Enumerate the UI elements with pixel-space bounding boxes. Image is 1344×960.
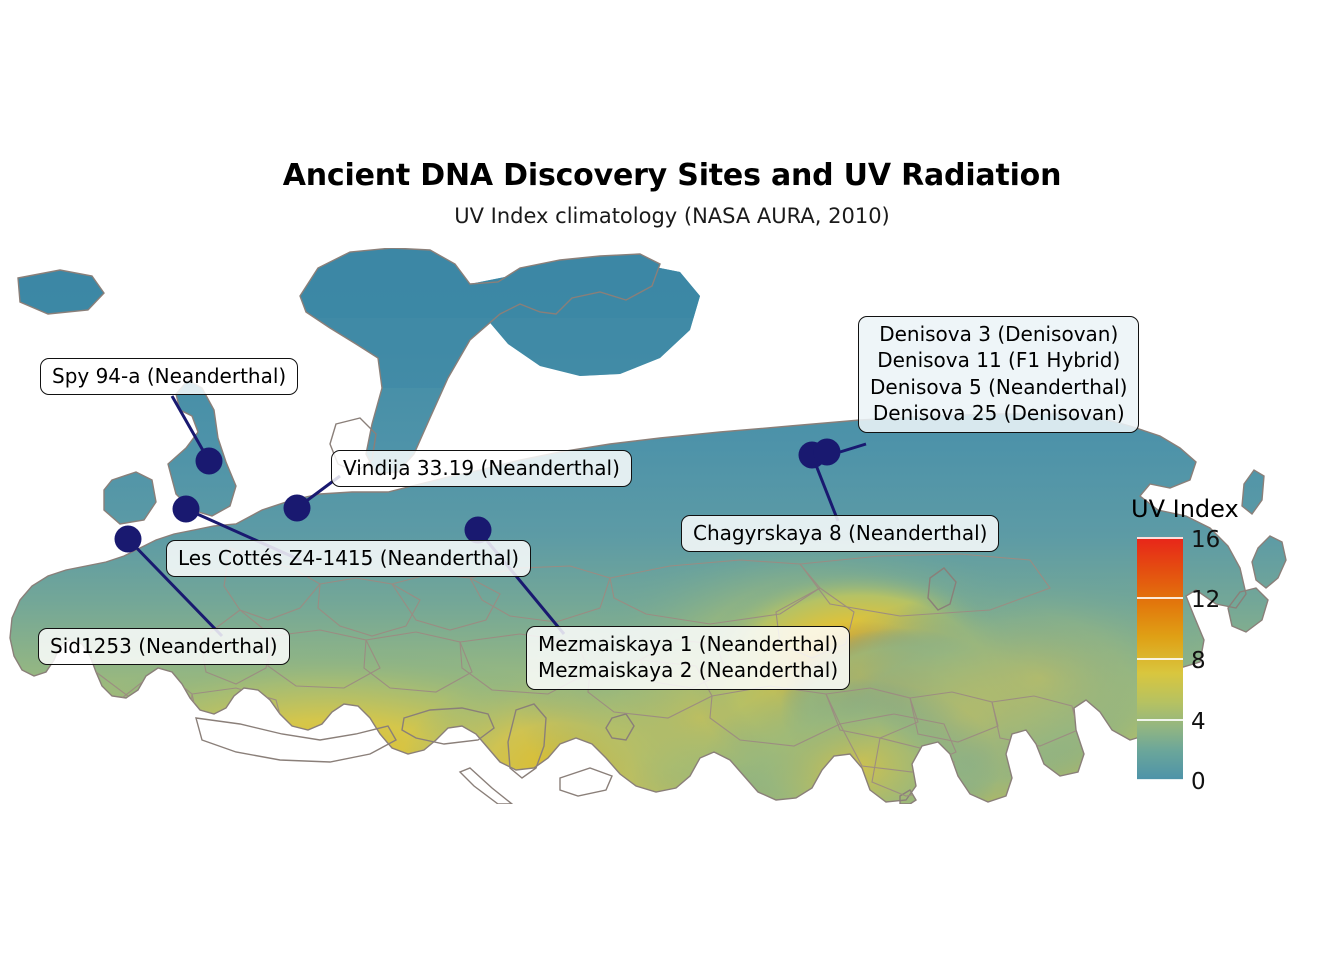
annotation-chagyrskaya[interactable]: Chagyrskaya 8 (Neanderthal) bbox=[681, 515, 999, 552]
annotation-line: Mezmaiskaya 1 (Neanderthal) bbox=[538, 631, 838, 657]
annotation-mezmaiskaya[interactable]: Mezmaiskaya 1 (Neanderthal) Mezmaiskaya … bbox=[526, 626, 850, 690]
page-title: Ancient DNA Discovery Sites and UV Radia… bbox=[0, 158, 1344, 193]
colorbar-tick-label: 16 bbox=[1191, 527, 1220, 553]
colorbar-tick-label: 4 bbox=[1191, 709, 1206, 735]
annotation-line: Denisova 3 (Denisovan) bbox=[870, 321, 1127, 347]
annotation-line: Chagyrskaya 8 (Neanderthal) bbox=[693, 520, 987, 546]
site-marker-denisova bbox=[814, 439, 841, 466]
colorbar-tick-label: 0 bbox=[1191, 769, 1206, 795]
site-marker-les-cottes bbox=[173, 496, 200, 523]
figure-canvas: Ancient DNA Discovery Sites and UV Radia… bbox=[0, 0, 1344, 960]
annotation-line: Denisova 11 (F1 Hybrid) bbox=[870, 347, 1127, 373]
colorbar-tick-mark bbox=[1137, 719, 1183, 721]
colorbar-title: UV Index bbox=[1131, 495, 1239, 523]
annotation-line: Denisova 5 (Neanderthal) bbox=[870, 374, 1127, 400]
colorbar-tick-mark bbox=[1137, 537, 1183, 539]
annotation-les-cottes[interactable]: Les Cottés Z4-1415 (Neanderthal) bbox=[166, 540, 531, 577]
colorbar-tick-mark bbox=[1137, 658, 1183, 660]
colorbar-tick-mark bbox=[1137, 779, 1183, 781]
annotation-line: Mezmaiskaya 2 (Neanderthal) bbox=[538, 657, 838, 683]
colorbar: UV Index 16 12 8 4 0 bbox=[1131, 495, 1331, 795]
site-marker-spy bbox=[196, 448, 223, 475]
annotation-vindija[interactable]: Vindija 33.19 (Neanderthal) bbox=[331, 450, 632, 487]
colorbar-tick-label: 8 bbox=[1191, 648, 1206, 674]
page-subtitle: UV Index climatology (NASA AURA, 2010) bbox=[0, 204, 1344, 228]
site-marker-vindija bbox=[284, 495, 311, 522]
annotation-spy[interactable]: Spy 94-a (Neanderthal) bbox=[40, 358, 298, 395]
site-marker-sid1253 bbox=[115, 526, 142, 553]
annotation-line: Denisova 25 (Denisovan) bbox=[870, 400, 1127, 426]
annotation-denisova[interactable]: Denisova 3 (Denisovan) Denisova 11 (F1 H… bbox=[858, 316, 1139, 433]
annotation-line: Vindija 33.19 (Neanderthal) bbox=[343, 455, 620, 481]
annotation-line: Les Cottés Z4-1415 (Neanderthal) bbox=[178, 545, 519, 571]
annotation-line: Spy 94-a (Neanderthal) bbox=[52, 363, 286, 389]
annotation-line: Sid1253 (Neanderthal) bbox=[50, 633, 278, 659]
colorbar-tick-label: 12 bbox=[1191, 587, 1220, 613]
colorbar-tick-mark bbox=[1137, 597, 1183, 599]
annotation-sid1253[interactable]: Sid1253 (Neanderthal) bbox=[38, 628, 290, 665]
